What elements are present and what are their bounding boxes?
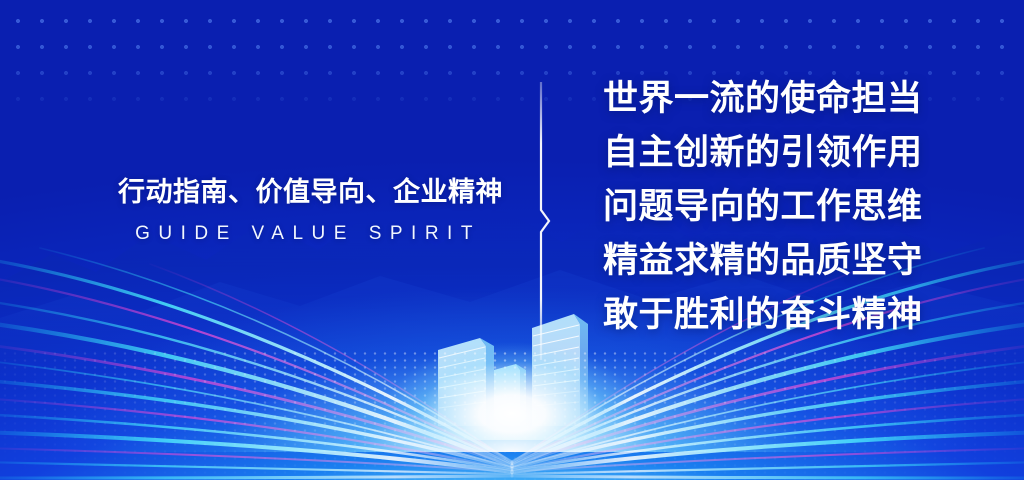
- perspective-grid-icon: [0, 350, 1024, 480]
- slogan-line: 世界一流的使命担当: [603, 72, 1003, 126]
- headline-chinese: 行动指南、价值导向、企业精神: [118, 176, 498, 210]
- slogan-line: 敢于胜利的奋斗精神: [603, 288, 1003, 342]
- slogan-line: 精益求精的品质坚守: [603, 234, 1003, 288]
- core-glow: [362, 320, 662, 440]
- vertical-line-chevron-right-icon: [536, 82, 558, 360]
- headline-english: GUIDE VALUE SPIRIT: [118, 223, 498, 246]
- corporate-culture-banner: 行动指南、价值导向、企业精神 GUIDE VALUE SPIRIT 世界一流的使…: [0, 0, 1024, 480]
- light-streaks-icon: [0, 0, 1024, 480]
- slogan-line: 问题导向的工作思维: [603, 180, 1003, 234]
- horizon-glow: [0, 222, 1024, 452]
- left-text-block: 行动指南、价值导向、企业精神 GUIDE VALUE SPIRIT: [118, 176, 498, 246]
- halftone-dots-icon: [0, 0, 1024, 120]
- slogan-line: 自主创新的引领作用: [603, 126, 1003, 180]
- mountain-silhouette-icon: [0, 150, 1024, 380]
- right-text-block: 世界一流的使命担当 自主创新的引领作用 问题导向的工作思维 精益求精的品质坚守 …: [603, 72, 1003, 341]
- skyscraper-buildings-icon: [432, 302, 632, 442]
